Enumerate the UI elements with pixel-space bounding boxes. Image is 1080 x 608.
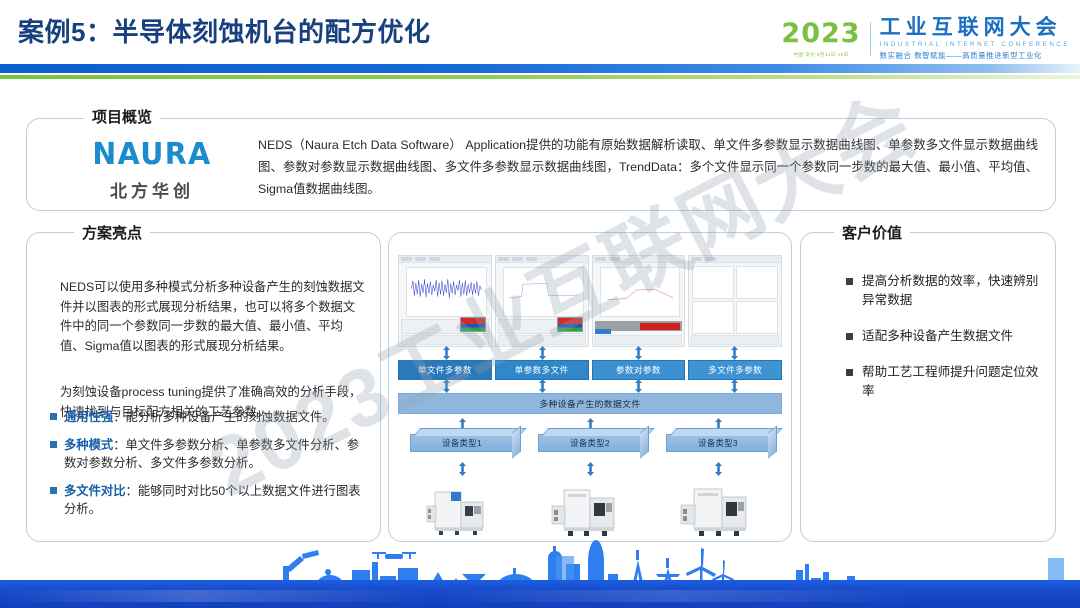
- value-text: 提高分析数据的效率，快速辨别异常数据: [862, 272, 1046, 310]
- thumb-red-indicator: [640, 323, 680, 330]
- logo-tagline: 数实融合 数智赋能——高质量推进新型工业化: [880, 50, 1070, 61]
- footer-skyline-band: [0, 540, 1080, 608]
- page-title: 案例5：半导体刻蚀机台的配方优化: [18, 12, 430, 49]
- double-arrow-icon: [634, 346, 643, 360]
- highlight-sep: ：: [113, 438, 125, 452]
- line-plot-icon: [507, 274, 580, 303]
- toolbar-button-icon: [705, 257, 716, 261]
- naura-logo: NAURA 北方华创: [62, 140, 242, 202]
- naura-wordmark: NAURA: [67, 140, 238, 170]
- device-box-3[interactable]: 设备类型3: [666, 434, 770, 452]
- square-bullet-icon: [846, 333, 853, 340]
- thumb-footer-bar: [498, 335, 586, 345]
- logo-name-cn: 工业互联网大会: [880, 17, 1070, 39]
- square-bullet-icon: [846, 278, 853, 285]
- arrow-cell: [590, 346, 686, 360]
- etch-machine-icon-2: [548, 486, 632, 536]
- double-arrow-icon: [442, 379, 451, 393]
- screenshot-thumb-single-param-multi-file: [495, 255, 589, 347]
- square-bullet-icon: [50, 487, 57, 494]
- quad-cell-2: [736, 266, 778, 299]
- city-skyline-icon: [0, 540, 1080, 608]
- highlight-key: 多种模式: [64, 438, 113, 452]
- thumb-plot-area: [406, 267, 487, 317]
- toolbar-button-icon: [526, 257, 537, 261]
- toolbar-button-icon: [415, 257, 426, 261]
- double-arrow-icon: [730, 346, 739, 360]
- square-bullet-icon: [50, 413, 57, 420]
- arrow-row-shots-to-modes: [398, 346, 782, 360]
- value-text: 帮助工艺工程师提升问题定位效率: [862, 363, 1046, 401]
- thumb-footer-bar: [691, 335, 779, 345]
- highlight-text: 通用性强：能分析多种设备产生的刻蚀数据文件。: [64, 408, 335, 427]
- highlights-panel-title: 方案亮点: [74, 222, 150, 243]
- arrow-cell: [590, 379, 686, 393]
- arrow-cell: [686, 346, 782, 360]
- double-arrow-icon: [538, 379, 547, 393]
- naura-name-cn: 北方华创: [62, 177, 242, 202]
- arrow-cell: [654, 462, 782, 476]
- customer-value-panel-title: 客户价值: [834, 222, 910, 243]
- thumb-active-tab: [595, 329, 611, 334]
- toolbar-button-icon: [498, 257, 509, 261]
- mode-box-multi-file-multi-param[interactable]: 多文件多参数: [688, 360, 782, 380]
- square-bullet-icon: [50, 441, 57, 448]
- overview-panel-title: 项目概览: [84, 106, 160, 127]
- customer-value-list: 提高分析数据的效率，快速辨别异常数据 适配多种设备产生数据文件 帮助工艺工程师提…: [846, 272, 1046, 418]
- highlight-sep: ：: [126, 484, 138, 498]
- list-item: 提高分析数据的效率，快速辨别异常数据: [846, 272, 1046, 310]
- value-text: 适配多种设备产生数据文件: [862, 327, 1013, 346]
- thumb-plot-area: [503, 267, 584, 317]
- thumb-legend-swatch: [557, 317, 583, 332]
- double-arrow-icon: [714, 462, 723, 476]
- machine-cell: [526, 478, 654, 536]
- scatter-plot-icon: [604, 274, 677, 303]
- logo-year-block: 2023 中国·常州 8月14日-16日: [781, 20, 869, 58]
- data-source-bar[interactable]: 多种设备产生的数据文件: [398, 393, 782, 414]
- slide-root: 案例5：半导体刻蚀机台的配方优化 2023 中国·常州 8月14日-16日 工业…: [0, 0, 1080, 608]
- thumb-plot-area: [600, 267, 681, 317]
- arrow-cell: [526, 462, 654, 476]
- screenshot-thumb-param-vs-param: [592, 255, 686, 347]
- square-bullet-icon: [846, 369, 853, 376]
- toolbar-button-icon: [691, 257, 702, 261]
- header-divider-green: [0, 75, 1080, 79]
- logo-year-subtitle: 中国·常州 8月14日-16日: [793, 52, 848, 58]
- device-cell: 设备类型3: [654, 434, 782, 456]
- device-box-2[interactable]: 设备类型2: [538, 434, 642, 452]
- arrow-cell: [398, 462, 526, 476]
- list-item: 适配多种设备产生数据文件: [846, 327, 1046, 346]
- header-divider-blue: [0, 64, 1080, 73]
- machine-cell: [654, 478, 782, 536]
- double-arrow-icon: [442, 346, 451, 360]
- double-arrow-icon: [458, 462, 467, 476]
- highlight-desc: 能分析多种设备产生的刻蚀数据文件。: [126, 410, 335, 424]
- arrow-cell: [686, 379, 782, 393]
- toolbar-button-icon: [401, 257, 412, 261]
- sea-sheen: [0, 590, 1080, 602]
- list-item: 通用性强：能分析多种设备产生的刻蚀数据文件。: [50, 408, 370, 427]
- screenshot-thumbnails-row: [398, 255, 782, 347]
- list-item: 帮助工艺工程师提升问题定位效率: [846, 363, 1046, 401]
- arrow-row-devices-to-machines: [398, 462, 782, 476]
- double-arrow-icon: [730, 379, 739, 393]
- double-arrow-icon: [538, 346, 547, 360]
- machine-photo-row: [398, 478, 782, 536]
- double-arrow-icon: [586, 462, 595, 476]
- overview-body-text: NEDS（Naura Etch Data Software） Applicati…: [258, 134, 1038, 200]
- toolbar-button-icon: [609, 257, 620, 261]
- etch-machine-icon-3: [676, 486, 760, 536]
- highlights-list: 通用性强：能分析多种设备产生的刻蚀数据文件。 多种模式：单文件多参数分析、单参数…: [50, 408, 370, 528]
- list-item: 多文件对比：能够同时对比50个以上数据文件进行图表分析。: [50, 482, 370, 519]
- device-box-1[interactable]: 设备类型1: [410, 434, 514, 452]
- list-item: 多种模式：单文件多参数分析、单参数多文件分析、参数对参数分析、多文件多参数分析。: [50, 436, 370, 473]
- thumb-toolbar: [593, 256, 685, 263]
- arrow-cell: [494, 379, 590, 393]
- toolbar-button-icon: [595, 257, 606, 261]
- logo-name-en: INDUSTRIAL INTERNET CONFERENCE: [880, 41, 1070, 48]
- toolbar-button-icon: [512, 257, 523, 261]
- highlight-sep: ：: [113, 410, 125, 424]
- mode-box-param-vs-param[interactable]: 参数对参数: [592, 360, 686, 380]
- highlights-paragraph-1: NEDS可以使用多种模式分析多种设备产生的刻蚀数据文件并以图表的形式展现分析结果…: [60, 278, 365, 356]
- logo-text-block: 工业互联网大会 INDUSTRIAL INTERNET CONFERENCE 数…: [880, 17, 1070, 61]
- quad-cell-3: [692, 301, 734, 334]
- analysis-mode-row: 单文件多参数 单参数多文件 参数对参数 多文件多参数: [398, 360, 782, 380]
- highlight-text: 多文件对比：能够同时对比50个以上数据文件进行图表分析。: [64, 482, 370, 519]
- quad-cell-4: [736, 301, 778, 334]
- thumb-footer-bar: [401, 335, 489, 345]
- logo-divider: [870, 22, 871, 56]
- arrow-cell: [494, 346, 590, 360]
- thumb-toolbar: [399, 256, 491, 263]
- logo-year: 2023: [781, 20, 860, 47]
- mode-box-single-param-multi-file[interactable]: 单参数多文件: [495, 360, 589, 380]
- sea-band: [0, 580, 1080, 608]
- highlight-key: 多文件对比: [64, 484, 126, 498]
- toolbar-button-icon: [429, 257, 440, 261]
- device-cell: 设备类型2: [526, 434, 654, 456]
- screenshot-thumb-single-file-multi-param: [398, 255, 492, 347]
- mode-box-single-file-multi-param[interactable]: 单文件多参数: [398, 360, 492, 380]
- arrow-cell: [398, 379, 494, 393]
- etch-machine-icon-1: [425, 486, 499, 536]
- conference-logo: 2023 中国·常州 8月14日-16日 工业互联网大会 INDUSTRIAL …: [781, 14, 1070, 64]
- thumb-legend-swatch: [460, 317, 486, 332]
- arrow-cell: [398, 346, 494, 360]
- machine-cell: [398, 478, 526, 536]
- quad-cell-1: [692, 266, 734, 299]
- screenshot-thumb-multi-file-multi-param: [688, 255, 782, 347]
- thumb-quad-plot-grid: [692, 266, 778, 334]
- double-arrow-icon: [634, 379, 643, 393]
- arrow-row-modes-to-source: [398, 379, 782, 393]
- thumb-toolbar: [496, 256, 588, 263]
- highlight-text: 多种模式：单文件多参数分析、单参数多文件分析、参数对参数分析、多文件多参数分析。: [64, 436, 370, 473]
- waveform-icon: [410, 274, 483, 303]
- device-type-row: 设备类型1 设备类型2 设备类型3: [398, 434, 782, 456]
- highlight-key: 通用性强: [64, 410, 113, 424]
- device-cell: 设备类型1: [398, 434, 526, 456]
- thumb-footer-bar: [595, 335, 683, 345]
- thumb-toolbar: [689, 256, 781, 263]
